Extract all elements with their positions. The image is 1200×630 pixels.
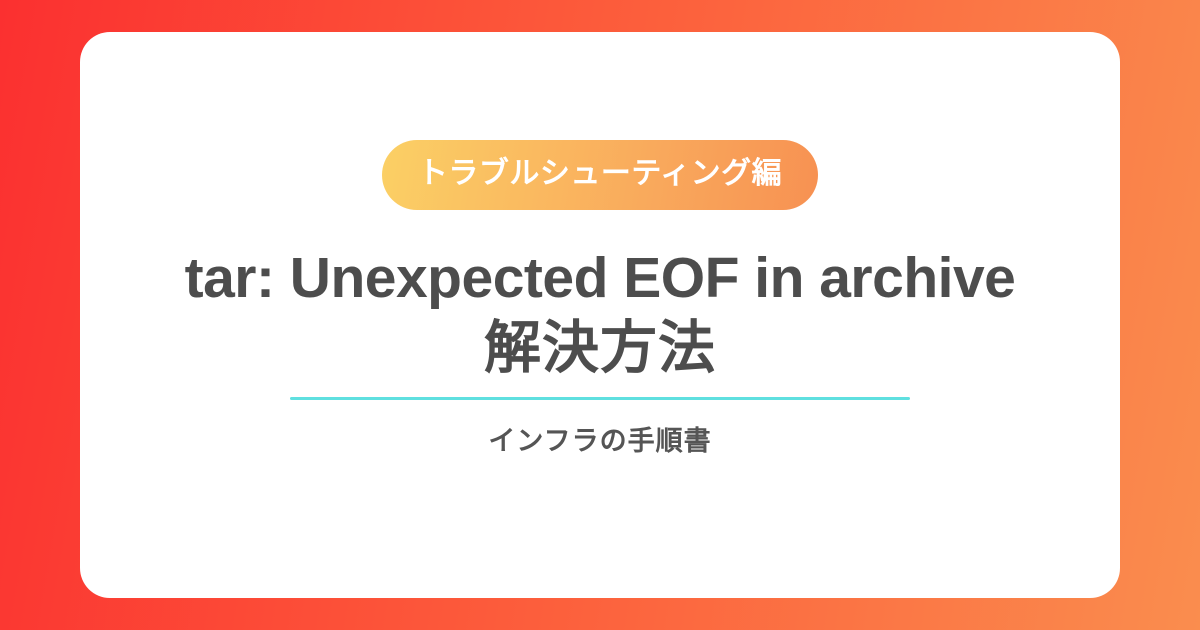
card-inner: トラブルシューティング編 tar: Unexpected EOF in arch… (80, 32, 1120, 455)
title-line-2: 解決方法 (140, 314, 1060, 384)
category-badge: トラブルシューティング編 (382, 140, 818, 210)
site-name: インフラの手順書 (488, 428, 711, 455)
title-heading: tar: Unexpected EOF in archive 解決方法 (140, 244, 1060, 383)
title-divider (290, 397, 910, 400)
title-line-1: tar: Unexpected EOF in archive (140, 244, 1060, 314)
og-image-canvas: トラブルシューティング編 tar: Unexpected EOF in arch… (0, 0, 1200, 630)
content-card: トラブルシューティング編 tar: Unexpected EOF in arch… (80, 32, 1120, 598)
page-title: tar: Unexpected EOF in archive 解決方法 (140, 244, 1060, 383)
